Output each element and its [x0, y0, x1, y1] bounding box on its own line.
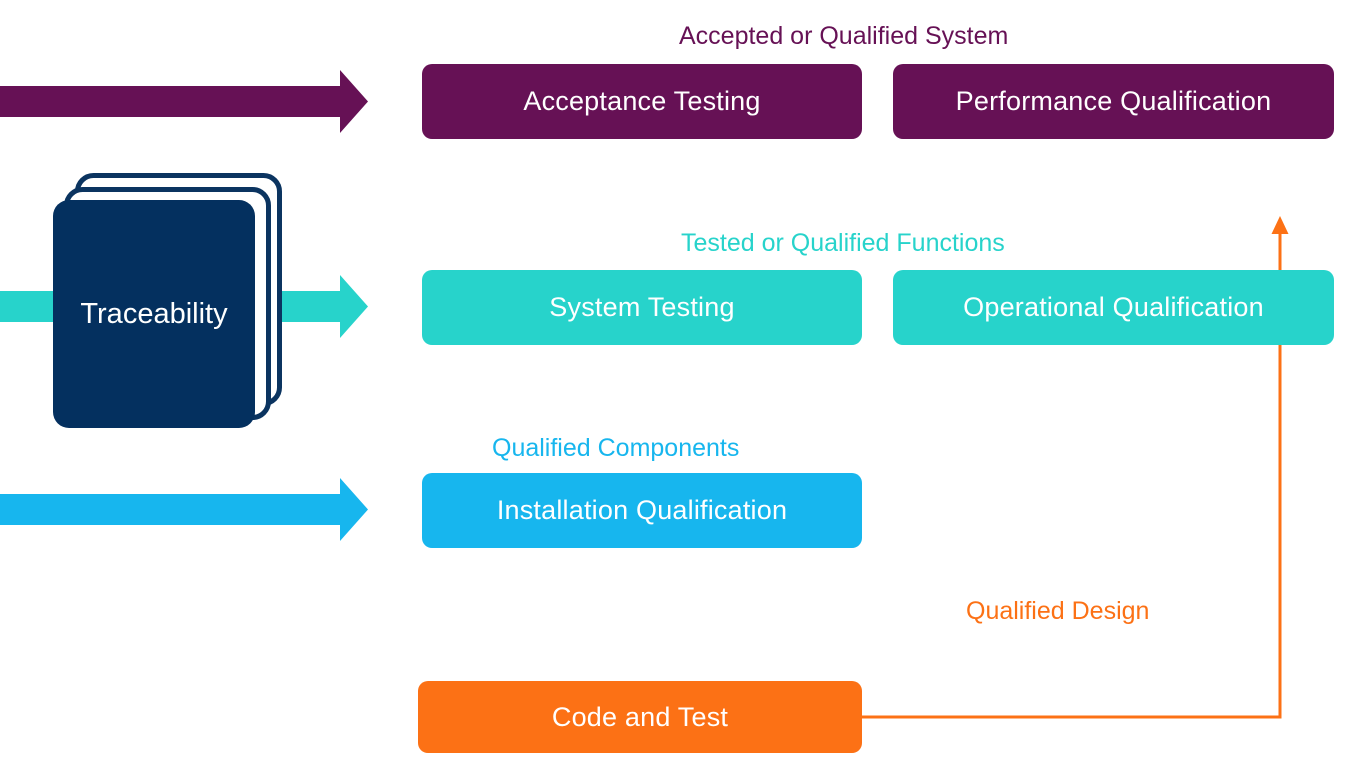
traceability-label: Traceability	[53, 200, 255, 428]
diagram-canvas: Acceptance Testing Performance Qualifica…	[0, 0, 1357, 772]
traceability-layer: Traceability	[0, 0, 1357, 772]
